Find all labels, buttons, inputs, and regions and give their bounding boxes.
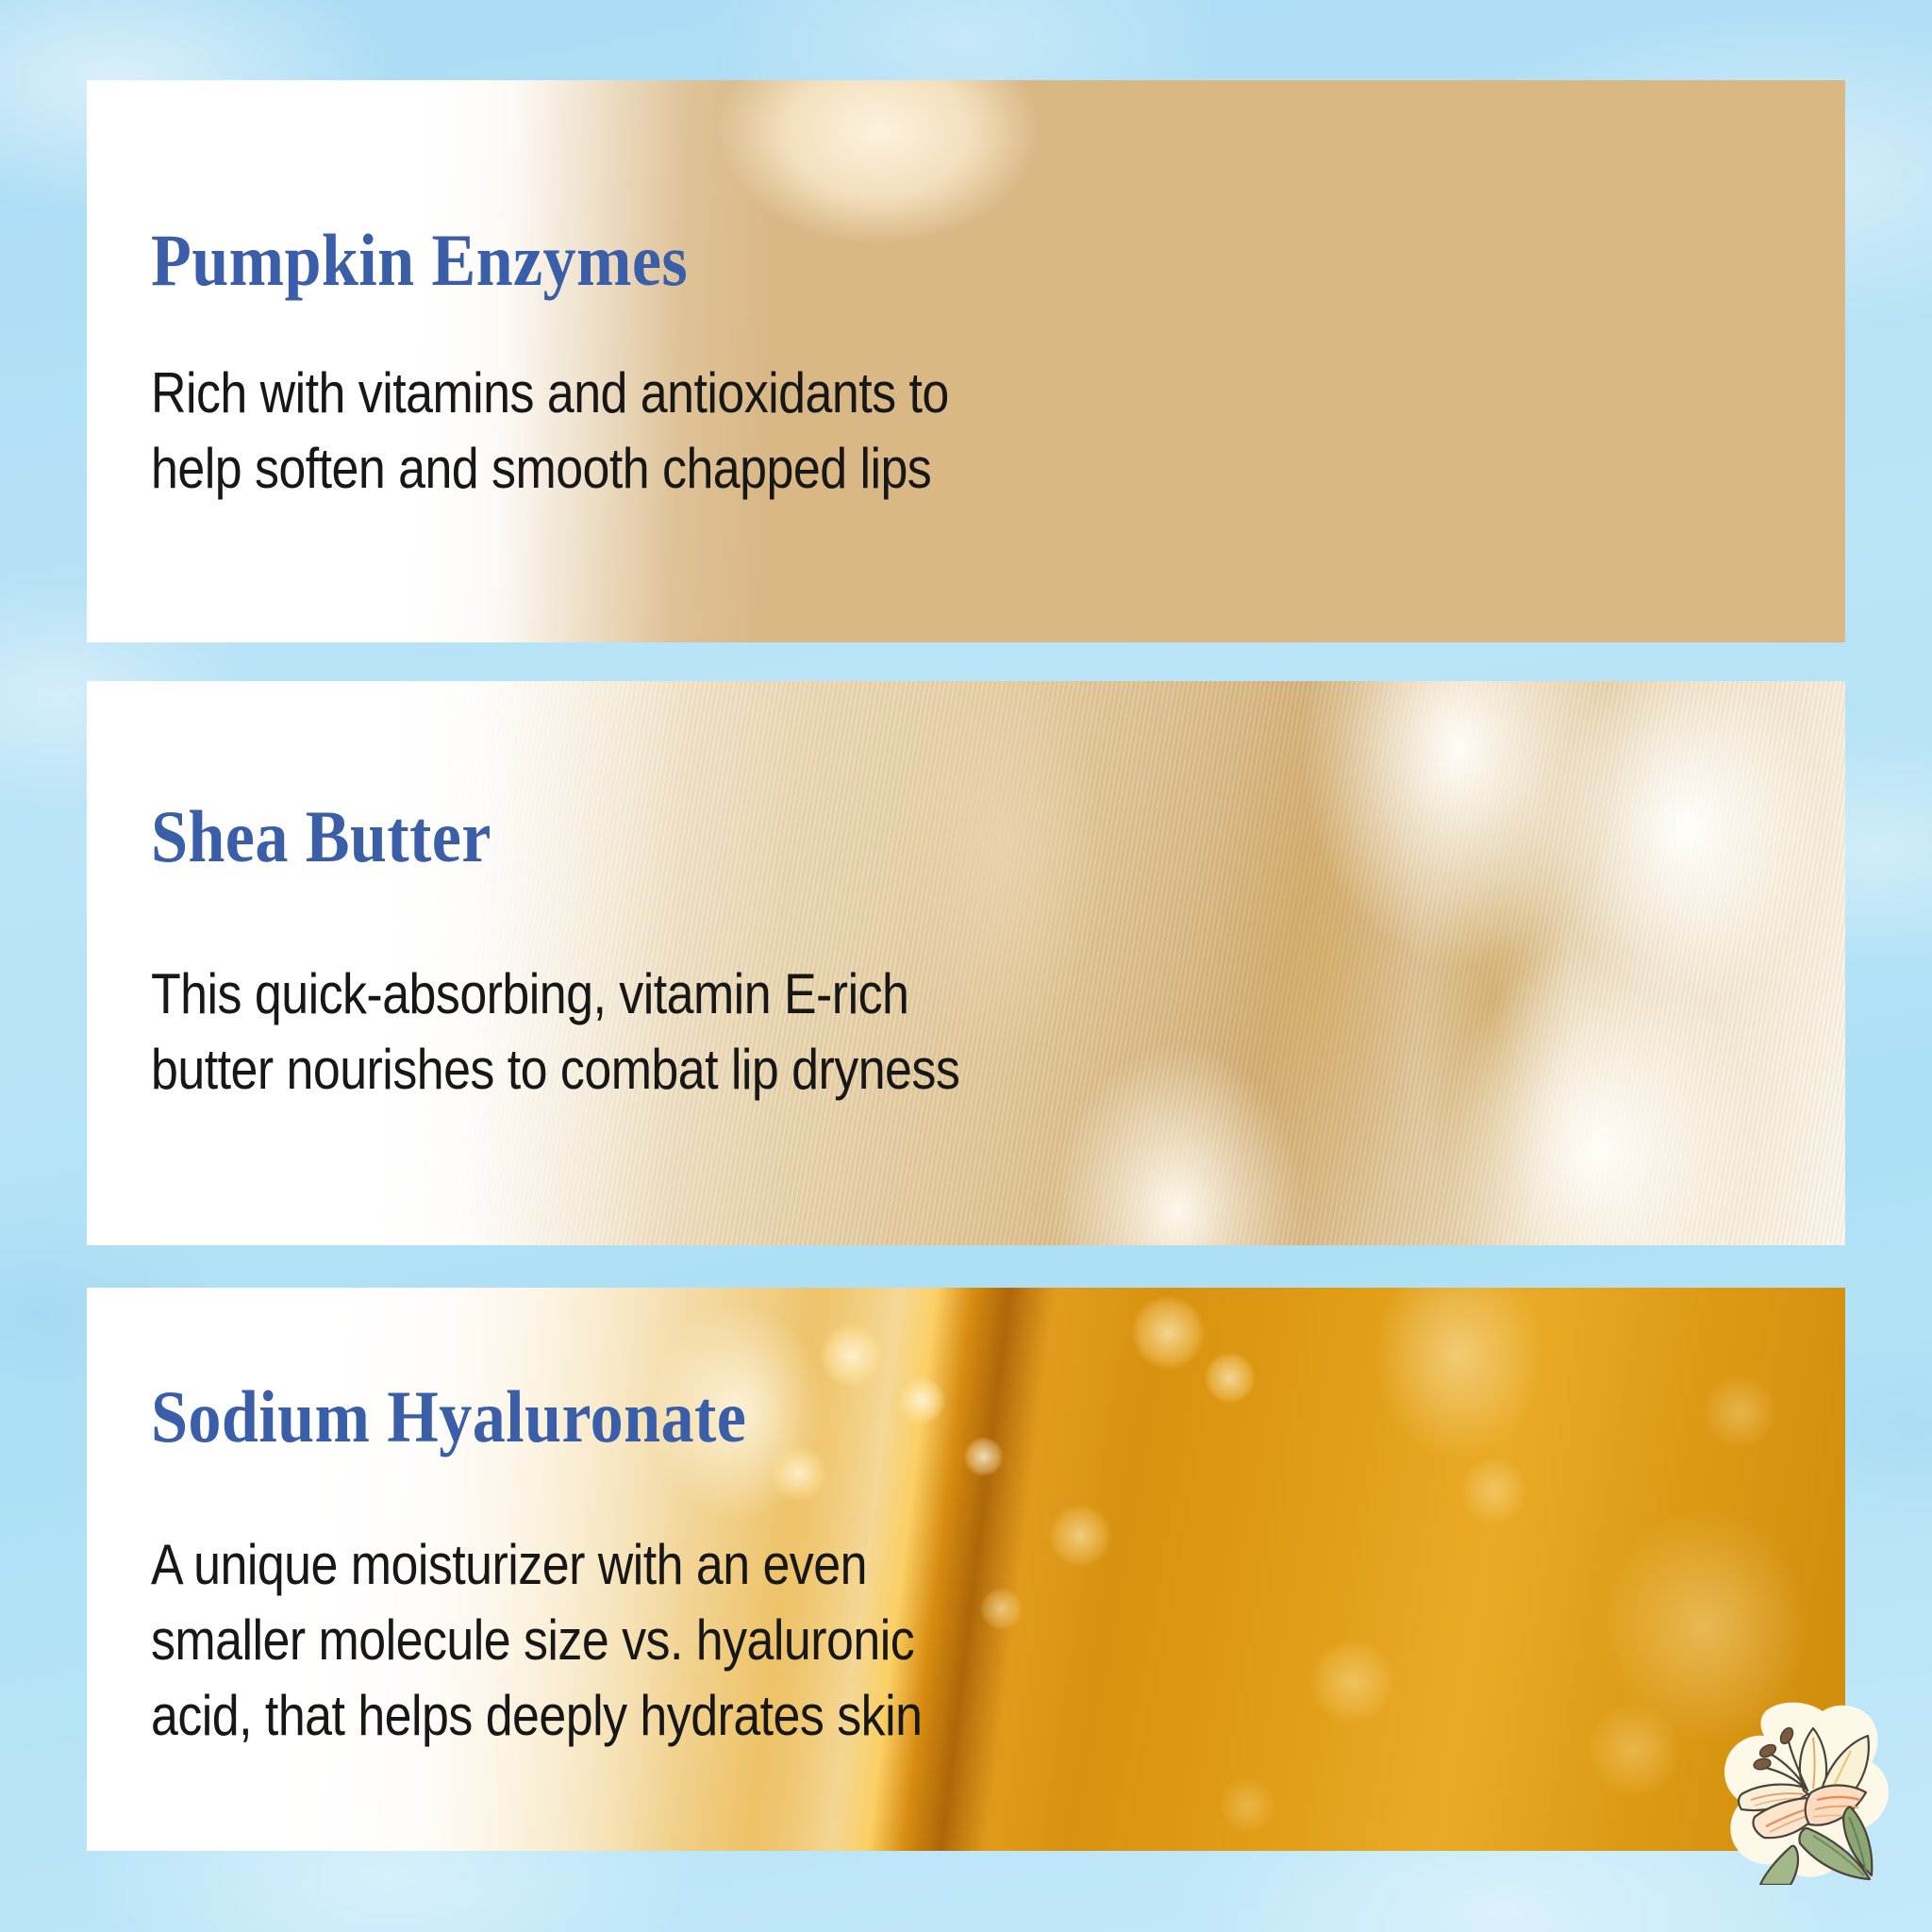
lily-flower-icon bbox=[1709, 1696, 1904, 1885]
card-description-shea-butter: This quick-absorbing, vitamin E-rich but… bbox=[151, 957, 1584, 1108]
ingredient-card-shea-butter: Shea Butter This quick-absorbing, vitami… bbox=[87, 681, 1845, 1245]
description-line: help soften and smooth chapped lips bbox=[151, 431, 1584, 507]
ingredient-card-pumpkin-enzymes: Pumpkin Enzymes Rich with vitamins and a… bbox=[87, 80, 1845, 642]
card-content: Sodium Hyaluronate A unique moisturizer … bbox=[151, 1380, 1807, 1753]
description-line: butter nourishes to combat lip dryness bbox=[151, 1032, 1584, 1108]
card-title-pumpkin-enzymes: Pumpkin Enzymes bbox=[151, 224, 1641, 297]
card-description-sodium-hyaluronate: A unique moisturizer with an even smalle… bbox=[151, 1527, 1584, 1753]
card-description-pumpkin-enzymes: Rich with vitamins and antioxidants to h… bbox=[151, 356, 1584, 507]
card-content: Pumpkin Enzymes Rich with vitamins and a… bbox=[151, 224, 1807, 507]
description-line: smaller molecule size vs. hyaluronic bbox=[151, 1603, 1584, 1678]
description-line: A unique moisturizer with an even bbox=[151, 1527, 1584, 1603]
ingredient-card-sodium-hyaluronate: Sodium Hyaluronate A unique moisturizer … bbox=[87, 1288, 1845, 1851]
description-line: acid, that helps deeply hydrates skin bbox=[151, 1678, 1584, 1754]
card-title-sodium-hyaluronate: Sodium Hyaluronate bbox=[151, 1380, 1641, 1454]
card-content: Shea Butter This quick-absorbing, vitami… bbox=[151, 800, 1807, 1108]
description-line: Rich with vitamins and antioxidants to bbox=[151, 356, 1584, 431]
description-line: This quick-absorbing, vitamin E-rich bbox=[151, 957, 1584, 1032]
card-title-shea-butter: Shea Butter bbox=[151, 800, 1641, 874]
